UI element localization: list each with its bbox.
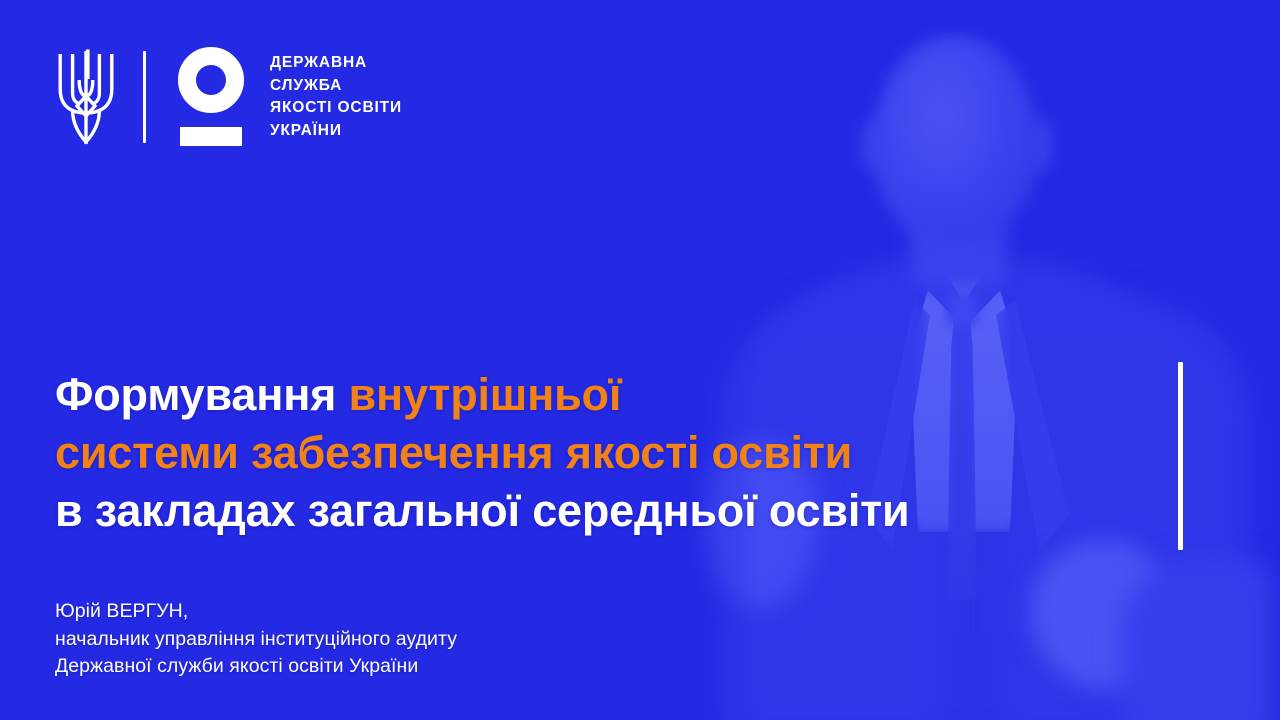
speaker-ear-left [862,118,888,172]
speaker-credit: Юрій ВЕРГУН, начальник управління інстит… [55,598,457,681]
mark-ring-shape [178,47,244,113]
speaker-forearm-right [1122,560,1272,720]
speaker-hand-right [1030,540,1176,690]
speaker-role: начальник управління інституційного ауди… [55,626,457,654]
organization-name: ДЕРЖАВНА СЛУЖБА ЯКОСТІ ОСВІТИ УКРАЇНИ [270,52,402,142]
title-card-slide: ДЕРЖАВНА СЛУЖБА ЯКОСТІ ОСВІТИ УКРАЇНИ Фо… [0,0,1280,720]
title-line-3: в закладах загальної середньої освіти [55,482,1175,540]
logo-text-line-3: ЯКОСТІ ОСВІТИ [270,99,402,116]
speaker-ear-right [1026,118,1052,172]
logo-divider [143,51,146,143]
accent-vertical-rule [1178,362,1183,550]
mark-bar-shape [180,127,242,146]
speaker-necktie-knot [946,292,978,326]
title-line-2-highlight: системи забезпечення якості освіти [55,427,852,478]
slide-title: Формування внутрішньої системи забезпече… [55,366,1175,540]
title-line-1: Формування внутрішньої [55,366,1175,424]
ukraine-trident-icon [55,49,117,145]
sqe-ring-mark-icon [174,47,248,147]
logo-text-line-1: ДЕРЖАВНА [270,54,367,71]
title-line-3-white: в закладах загальної середньої освіти [55,485,909,536]
organization-logo: ДЕРЖАВНА СЛУЖБА ЯКОСТІ ОСВІТИ УКРАЇНИ [55,47,402,147]
speaker-organization: Державної служби якості освіти України [55,653,457,681]
speaker-collar [916,264,1012,328]
title-line-1-white: Формування [55,369,349,420]
speaker-neck [910,208,1006,288]
title-line-1-highlight: внутрішньої [349,369,622,420]
speaker-name: Юрій ВЕРГУН, [55,598,457,626]
speaker-head [872,36,1038,242]
logo-text-line-4: УКРАЇНИ [270,122,342,139]
logo-text-line-2: СЛУЖБА [270,77,342,94]
title-line-2: системи забезпечення якості освіти [55,424,1175,482]
